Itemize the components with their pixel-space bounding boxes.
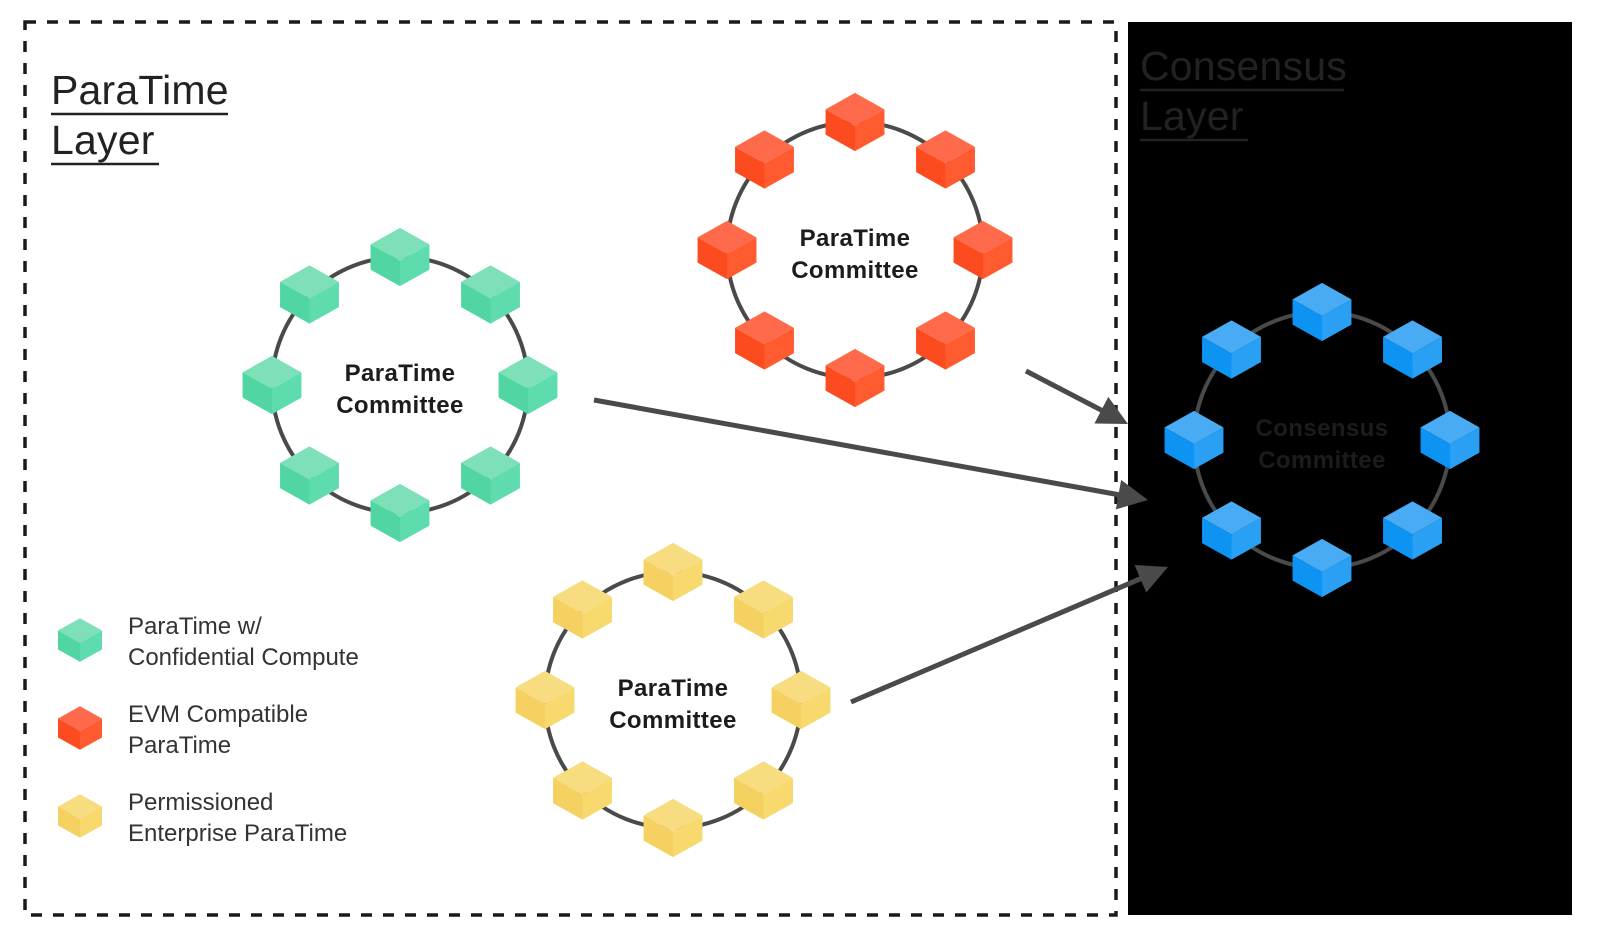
committee-node-paratime-enterprise-7 [553,580,612,638]
committee-node-paratime-confidential-6 [243,356,302,414]
committee-node-paratime-confidential-7 [280,265,339,323]
architecture-diagram: ParaTime Layer Consensus Layer ParaTimeC… [0,0,1600,940]
legend-confidential-label-line1: ParaTime w/ [128,613,262,640]
committee-label-line2-consensus: Committee [1258,447,1386,474]
committee-node-paratime-evm-3 [916,311,975,369]
committee-node-paratime-confidential-1 [461,265,520,323]
committee-label-line2-paratime-confidential: Committee [336,392,464,419]
committee-node-paratime-enterprise-5 [553,761,612,819]
legend-enterprise: PermissionedEnterprise ParaTime [58,789,347,847]
committee-node-paratime-evm-2 [954,221,1013,279]
arrow-red-to-consensus [1026,371,1128,424]
committee-node-paratime-evm-5 [735,311,794,369]
committee-node-paratime-evm-1 [916,130,975,188]
committee-label-line1-paratime-confidential: ParaTime [345,360,456,387]
legend-evm-label-line1: EVM Compatible [128,701,308,728]
committee-node-paratime-confidential-4 [371,484,430,542]
committee-label-line1-paratime-enterprise: ParaTime [618,675,729,702]
committee-node-paratime-enterprise-4 [644,799,703,857]
committee-paratime-enterprise: ParaTimeCommittee [516,543,831,857]
committee-paratime-evm: ParaTimeCommittee [698,93,1013,407]
legend-enterprise-label-line1: Permissioned [128,789,273,816]
committee-paratime-confidential: ParaTimeCommittee [243,228,558,542]
committee-label-line2-paratime-evm: Committee [791,257,919,284]
committee-label-line2-paratime-enterprise: Committee [609,707,737,734]
arrow-red-to-consensus-shaft [1026,371,1105,412]
legend: ParaTime w/Confidential ComputeEVM Compa… [58,613,359,847]
legend-enterprise-label-line2: Enterprise ParaTime [128,820,347,847]
arrow-yellow-to-consensus-shaft [851,577,1144,702]
legend-evm-swatch-cube [58,706,102,750]
committee-node-paratime-enterprise-6 [516,671,575,729]
legend-evm: EVM CompatibleParaTime [58,701,308,759]
arrow-green-to-consensus-shaft [594,400,1122,495]
paratime-layer-title: ParaTime Layer [51,67,229,164]
committee-node-paratime-evm-4 [826,349,885,407]
committee-node-paratime-enterprise-3 [734,761,793,819]
committee-node-paratime-enterprise-1 [734,580,793,638]
legend-evm-label-line2: ParaTime [128,732,231,759]
diagram-canvas: ParaTime Layer Consensus Layer ParaTimeC… [0,0,1600,940]
committee-node-paratime-evm-6 [698,221,757,279]
paratime-title-line1: ParaTime [51,67,229,113]
paratime-title-line2: Layer [51,117,155,163]
committee-label-line1-consensus: Consensus [1256,415,1389,442]
committee-label-line1-paratime-evm: ParaTime [800,225,911,252]
committee-node-paratime-confidential-3 [461,446,520,504]
legend-confidential-label-line2: Confidential Compute [128,644,359,671]
committee-node-paratime-enterprise-0 [644,543,703,601]
committee-node-paratime-enterprise-2 [772,671,831,729]
legend-enterprise-swatch-cube [58,794,102,838]
committee-node-paratime-confidential-2 [499,356,558,414]
arrow-green-to-consensus [594,400,1148,509]
committee-node-paratime-confidential-5 [280,446,339,504]
consensus-title-line1: Consensus [1140,43,1347,89]
consensus-title-line2: Layer [1140,93,1244,139]
arrow-yellow-to-consensus [851,565,1168,702]
committee-node-paratime-evm-0 [826,93,885,151]
committee-node-paratime-confidential-0 [371,228,430,286]
committee-node-paratime-evm-7 [735,130,794,188]
legend-confidential-swatch-cube [58,618,102,662]
legend-confidential: ParaTime w/Confidential Compute [58,613,359,671]
arrows-layer [594,371,1168,702]
